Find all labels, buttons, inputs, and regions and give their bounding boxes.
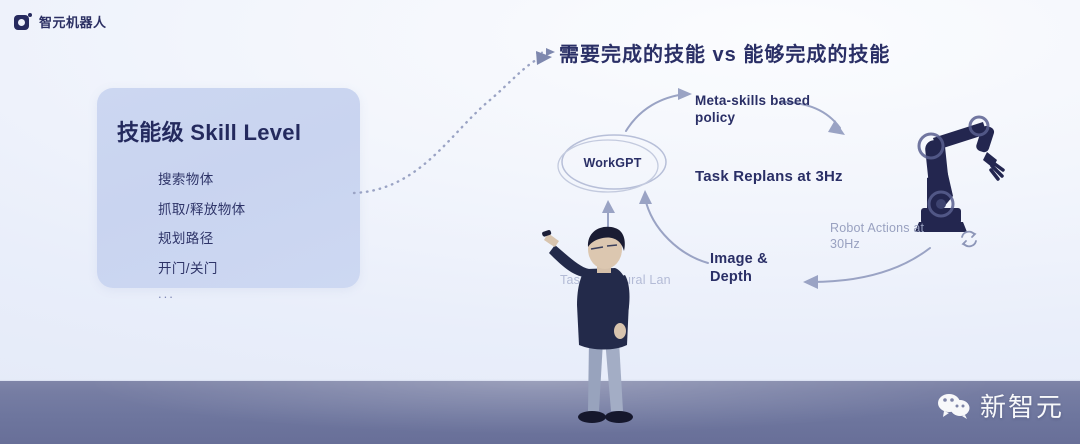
stage-floor-sheen	[0, 381, 1080, 444]
node-task-replans: Task Replans at 3Hz	[695, 168, 843, 185]
channel-watermark: 新智元	[937, 387, 1064, 424]
presentation-screenshot: 智元机器人 需要完成的技能 vs 能够完成的技能 技能级 Skill Level…	[0, 0, 1080, 444]
wechat-icon	[937, 392, 971, 420]
list-item: 抓取/释放物体	[158, 198, 246, 218]
dotted-connector	[340, 38, 570, 208]
watermark-label: 新智元	[980, 387, 1064, 424]
list-ellipsis: ...	[158, 286, 246, 301]
presenter-figure	[541, 221, 661, 444]
slide-headline: 需要完成的技能 vs 能够完成的技能	[559, 38, 890, 67]
robot-logo-icon	[14, 13, 32, 31]
node-image-depth: Image & Depth	[710, 250, 790, 286]
brand-logo: 智元机器人	[14, 12, 107, 31]
list-item: 规划路径	[158, 227, 246, 247]
list-item: 搜索物体	[158, 168, 246, 188]
refresh-cycle-icon	[958, 228, 980, 250]
skill-list: 搜索物体 抓取/释放物体 规划路径 开门/关门 ...	[118, 168, 246, 311]
node-meta-skills: Meta-skills based policy	[695, 92, 815, 126]
node-robot-actions: Robot Actions at 30Hz	[830, 220, 940, 252]
card-title: 技能级 Skill Level	[117, 115, 301, 147]
list-item: 开门/关门	[158, 257, 246, 277]
skill-level-card: 技能级 Skill Level 搜索物体 抓取/释放物体 规划路径 开门/关门 …	[97, 88, 360, 288]
brand-name: 智元机器人	[39, 12, 107, 31]
